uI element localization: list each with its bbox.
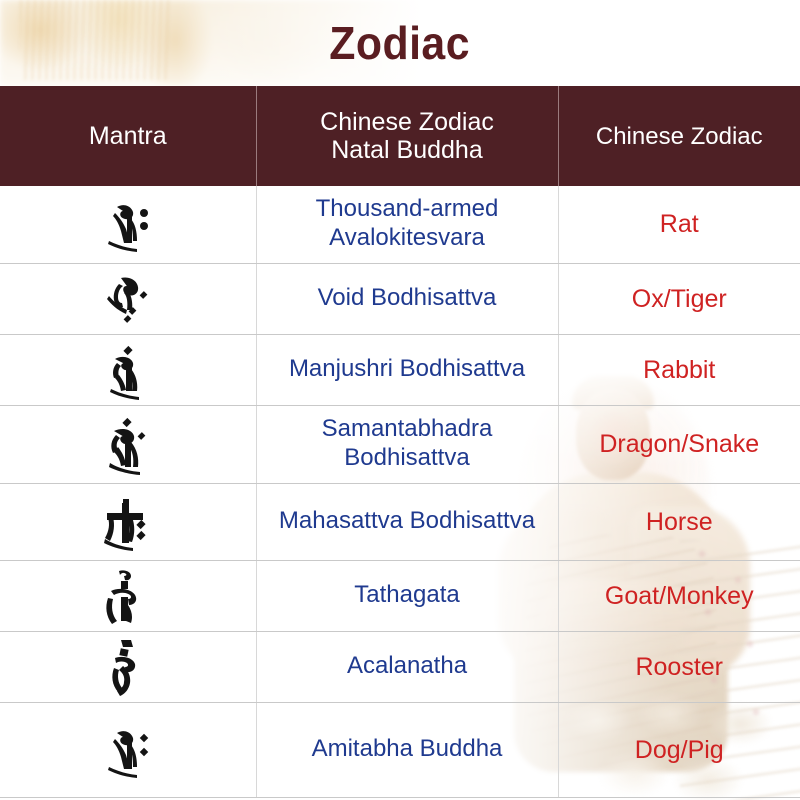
zodiac-sign-cell: Dragon/Snake <box>558 405 800 483</box>
page-title: Zodiac <box>330 16 471 70</box>
column-header-chinese-zodiac: Chinese Zodiac <box>558 86 800 186</box>
column-header-natal-buddha-line1: Chinese Zodiac <box>320 108 494 136</box>
mantra-cell <box>0 631 256 702</box>
column-header-natal-buddha-line2: Natal Buddha <box>331 136 483 164</box>
table-row: Mahasattva Bodhisattva Horse <box>0 483 800 560</box>
zodiac-sign-cell: Rabbit <box>558 334 800 405</box>
natal-buddha-line1: Thousand-armed <box>316 195 499 222</box>
mantra-cell <box>0 483 256 560</box>
table-body: Thousand-armed Avalokitesvara Rat <box>0 186 800 797</box>
table-row: Manjushri Bodhisattva Rabbit <box>0 334 800 405</box>
natal-buddha-line2: Bodhisattva <box>344 444 469 471</box>
natal-buddha-cell: Amitabha Buddha <box>256 702 558 797</box>
siddham-seed-hrih2-icon <box>97 719 159 781</box>
natal-buddha-cell: Samantabhadra Bodhisattva <box>256 405 558 483</box>
column-header-mantra: Mantra <box>0 86 256 186</box>
column-header-chinese-zodiac-line1: Chinese Zodiac <box>596 123 763 150</box>
mantra-cell <box>0 702 256 797</box>
siddham-seed-ham-icon <box>97 636 159 698</box>
zodiac-table: Mantra Chinese Zodiac Natal Buddha Chine… <box>0 86 800 798</box>
mantra-cell <box>0 186 256 263</box>
natal-buddha-line2: Avalokitesvara <box>329 224 485 251</box>
table-row: Thousand-armed Avalokitesvara Rat <box>0 186 800 263</box>
natal-buddha-cell: Tathagata <box>256 560 558 631</box>
mantra-cell <box>0 263 256 334</box>
zodiac-sign-cell: Rooster <box>558 631 800 702</box>
siddham-seed-am-icon <box>97 413 159 475</box>
siddham-seed-sa-icon <box>97 491 159 553</box>
siddham-seed-tarak-icon <box>97 268 159 330</box>
natal-buddha-cell: Thousand-armed Avalokitesvara <box>256 186 558 263</box>
siddham-seed-man-icon <box>97 339 159 401</box>
table-row: Void Bodhisattva Ox/Tiger <box>0 263 800 334</box>
table-row: Tathagata Goat/Monkey <box>0 560 800 631</box>
zodiac-sign-cell: Goat/Monkey <box>558 560 800 631</box>
column-header-natal-buddha: Chinese Zodiac Natal Buddha <box>256 86 558 186</box>
table-header: Mantra Chinese Zodiac Natal Buddha Chine… <box>0 86 800 186</box>
title-area: Zodiac <box>0 0 800 86</box>
table-row: Samantabhadra Bodhisattva Dragon/Snake <box>0 405 800 483</box>
natal-buddha-cell: Mahasattva Bodhisattva <box>256 483 558 560</box>
natal-buddha-cell: Manjushri Bodhisattva <box>256 334 558 405</box>
natal-buddha-cell: Acalanatha <box>256 631 558 702</box>
table-header-row: Mantra Chinese Zodiac Natal Buddha Chine… <box>0 86 800 186</box>
siddham-seed-hrih-icon <box>97 193 159 255</box>
column-header-mantra-line1: Mantra <box>89 122 167 150</box>
zodiac-sign-cell: Ox/Tiger <box>558 263 800 334</box>
natal-buddha-cell: Void Bodhisattva <box>256 263 558 334</box>
natal-buddha-line1: Samantabhadra <box>322 415 493 442</box>
mantra-cell <box>0 560 256 631</box>
siddham-seed-bai-icon <box>97 565 159 627</box>
table-row: Amitabha Buddha Dog/Pig <box>0 702 800 797</box>
zodiac-sign-cell: Dog/Pig <box>558 702 800 797</box>
table-row: Acalanatha Rooster <box>0 631 800 702</box>
zodiac-sign-cell: Horse <box>558 483 800 560</box>
mantra-cell <box>0 334 256 405</box>
mantra-cell <box>0 405 256 483</box>
zodiac-sign-cell: Rat <box>558 186 800 263</box>
